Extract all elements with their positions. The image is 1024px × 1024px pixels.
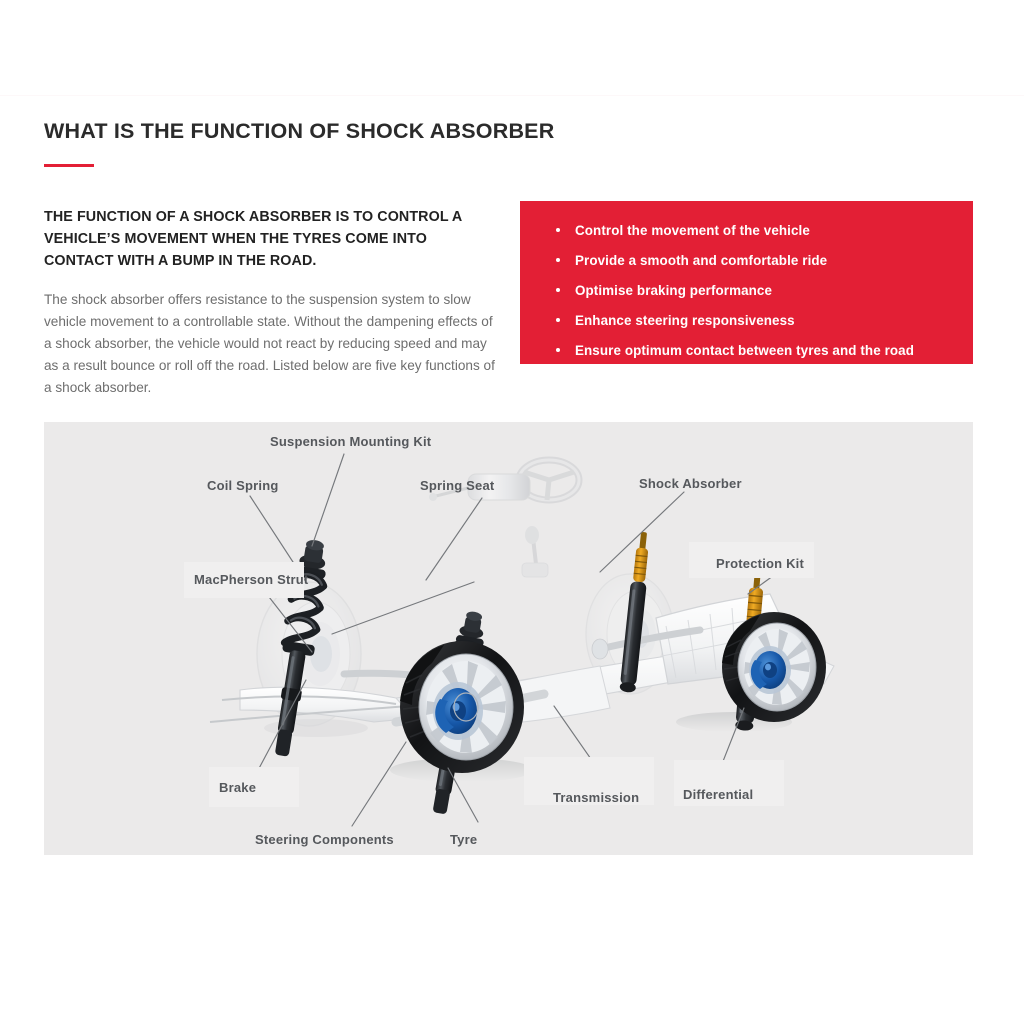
list-item: Provide a smooth and comfortable ride bbox=[538, 253, 947, 269]
list-item: Control the movement of the vehicle bbox=[538, 223, 947, 239]
list-item-label: Provide a smooth and comfortable ride bbox=[575, 253, 827, 268]
body-paragraph: The shock absorber offers resistance to … bbox=[44, 289, 496, 399]
suspension-illustration bbox=[44, 422, 973, 855]
diagram-label-coil-spring: Coil Spring bbox=[207, 478, 279, 493]
bullet-icon bbox=[556, 288, 560, 292]
page-root: WHAT IS THE FUNCTION OF SHOCK ABSORBER T… bbox=[0, 0, 1024, 1024]
lead-paragraph: THE FUNCTION OF A SHOCK ABSORBER IS TO C… bbox=[44, 206, 496, 273]
diagram-label-steering-components: Steering Components bbox=[255, 832, 394, 847]
diagram-label-tyre: Tyre bbox=[450, 832, 477, 847]
list-item-label: Ensure optimum contact between tyres and… bbox=[575, 343, 914, 358]
title-accent-rule bbox=[44, 164, 94, 167]
diagram-label-suspension-mounting-kit: Suspension Mounting Kit bbox=[270, 434, 431, 449]
intro-columns: THE FUNCTION OF A SHOCK ABSORBER IS TO C… bbox=[44, 206, 974, 406]
diagram-label-shock-absorber: Shock Absorber bbox=[639, 476, 742, 491]
diagram-label-macpherson-strut: MacPherson Strut bbox=[194, 572, 308, 587]
article-content: WHAT IS THE FUNCTION OF SHOCK ABSORBER T… bbox=[44, 118, 974, 406]
suspension-diagram: Suspension Mounting Kit Coil Spring Spri… bbox=[44, 422, 973, 855]
bullet-icon bbox=[556, 258, 560, 262]
intro-text-column: THE FUNCTION OF A SHOCK ABSORBER IS TO C… bbox=[44, 206, 496, 399]
header-divider bbox=[0, 95, 1024, 96]
list-item-label: Enhance steering responsiveness bbox=[575, 313, 795, 328]
diagram-label-spring-seat: Spring Seat bbox=[420, 478, 494, 493]
bullet-icon bbox=[556, 318, 560, 322]
key-functions-callout: Control the movement of the vehicle Prov… bbox=[520, 201, 973, 364]
list-item: Optimise braking performance bbox=[538, 283, 947, 299]
diagram-label-brake: Brake bbox=[219, 780, 256, 795]
diagram-label-differential: Differential bbox=[683, 787, 753, 802]
bullet-icon bbox=[556, 228, 560, 232]
bullet-icon bbox=[556, 348, 560, 352]
diagram-label-protection-kit: Protection Kit bbox=[716, 556, 804, 571]
list-item-label: Control the movement of the vehicle bbox=[575, 223, 810, 238]
list-item: Ensure optimum contact between tyres and… bbox=[538, 343, 947, 359]
diagram-label-transmission: Transmission bbox=[553, 790, 639, 805]
list-item-label: Optimise braking performance bbox=[575, 283, 772, 298]
key-functions-list: Control the movement of the vehicle Prov… bbox=[538, 223, 947, 359]
list-item: Enhance steering responsiveness bbox=[538, 313, 947, 329]
page-title: WHAT IS THE FUNCTION OF SHOCK ABSORBER bbox=[44, 118, 974, 145]
